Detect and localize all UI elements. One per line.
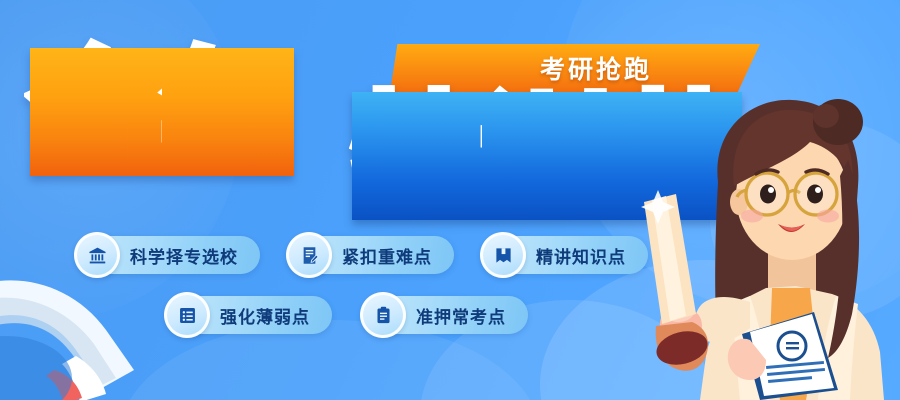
list-lines-icon: [164, 292, 210, 338]
headline-char-fill: 训: [482, 92, 612, 220]
feature-label: 科学择专选校: [130, 243, 238, 268]
feature-pill-school-selection[interactable]: 科学择专选校: [88, 236, 260, 274]
headline-char-fill: 全: [30, 48, 162, 176]
feature-label: 强化薄弱点: [220, 303, 310, 328]
feature-pill-key-points[interactable]: 紧扣重难点: [300, 236, 454, 274]
open-book-icon: [480, 232, 526, 278]
document-pencil-icon: [286, 232, 332, 278]
headline-char-fill: 特: [352, 92, 482, 220]
bank-building-icon: [74, 232, 120, 278]
feature-pill-weak-points[interactable]: 强化薄弱点: [178, 296, 332, 334]
feature-label: 紧扣重难点: [342, 243, 432, 268]
headline-char-fill: 年: [162, 48, 294, 176]
student-illustration: [600, 90, 900, 400]
clipboard-icon: [360, 292, 406, 338]
feature-pill-exam-points[interactable]: 准押常考点: [374, 296, 528, 334]
feature-label: 准押常考点: [416, 303, 506, 328]
headline-orange: 全 全 年 年: [30, 48, 294, 176]
promo-banner: 考研抢跑 全 全 年 年 特 特 训 训 营 营: [0, 0, 900, 400]
